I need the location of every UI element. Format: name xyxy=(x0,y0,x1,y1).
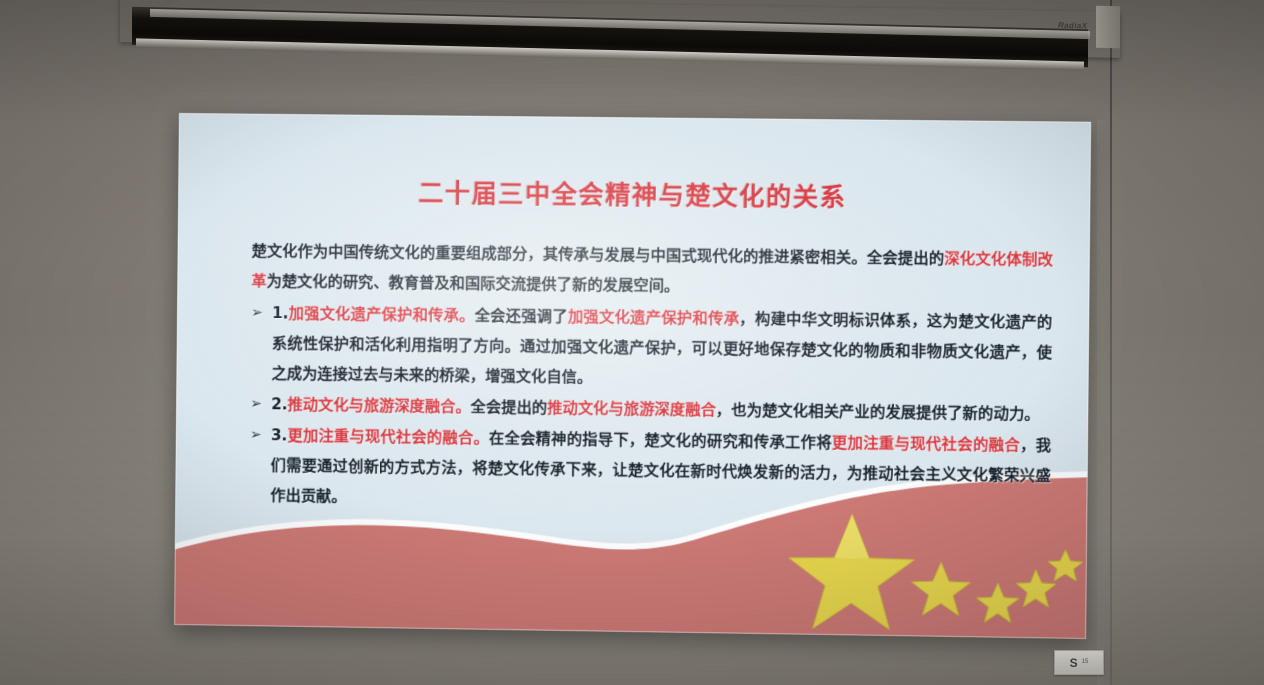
bullet-1-text: 1.加强文化遗产保护和传承。全会还强调了加强文化遗产保护和传承，构建中华文明标识… xyxy=(271,298,1052,398)
bullet-marker-icon: ➢ xyxy=(250,420,271,450)
slide-body: 楚文化作为中国传统文化的重要组成部分，其传承与发展与中国式现代化的推进紧密相关。… xyxy=(249,236,1053,522)
bullet-3-highlight: 更加注重与现代社会的融合 xyxy=(832,434,1020,455)
bullet-1-heading: 加强文化遗产保护和传承。 xyxy=(288,304,474,324)
bullet-2-segment-1: 全会提出的 xyxy=(471,398,548,417)
intro-segment-1: 楚文化作为中国传统文化的重要组成部分，其传承与发展与中国式现代化的推进紧密相关。… xyxy=(252,242,945,268)
bullet-2-highlight: 推动文化与旅游深度融合 xyxy=(547,399,716,419)
five-star-decoration xyxy=(788,508,1091,633)
bullet-3-segment-1: 在全会精神的指导下，楚文化的研究和传承工作将 xyxy=(489,429,832,452)
housing-end-cap xyxy=(1096,6,1120,48)
bullet-marker-icon: ➢ xyxy=(251,298,272,328)
bullet-2-number: 2. xyxy=(271,395,288,413)
wall-corner-shade xyxy=(1097,120,1107,685)
sticker-logo-icon: S xyxy=(1070,657,1078,669)
intro-paragraph: 楚文化作为中国传统文化的重要组成部分，其传承与发展与中国式现代化的推进紧密相关。… xyxy=(251,236,1053,305)
bullet-3-number: 3. xyxy=(271,426,288,444)
bullet-1-number: 1. xyxy=(272,304,289,322)
wall-asset-label: S 15 xyxy=(1054,650,1104,675)
bullet-item-3: ➢ 3.更加注重与现代社会的融合。在全会精神的指导下，楚文化的研究和传承工作将更… xyxy=(249,420,1051,521)
slide-canvas: 二十届三中全会精神与楚文化的关系 楚文化作为中国传统文化的重要组成部分，其传承与… xyxy=(174,113,1091,639)
bullet-2-segment-2: ，也为楚文化相关产业的发展提供了新的动力。 xyxy=(716,401,1040,423)
bullet-item-1: ➢ 1.加强文化遗产保护和传承。全会还强调了加强文化遗产保护和传承，构建中华文明… xyxy=(250,298,1052,398)
bullet-1-segment-1: 全会还强调了 xyxy=(475,306,568,325)
bullet-2-heading: 推动文化与旅游深度融合。 xyxy=(288,395,471,415)
sticker-code: 15 xyxy=(1082,659,1089,666)
slide-title: 二十届三中全会精神与楚文化的关系 xyxy=(178,171,1090,217)
intro-segment-2: 为楚文化的研究、教育普及和国际交流提供了新的发展空间。 xyxy=(267,272,680,295)
bullet-1-highlight: 加强文化遗产保护和传承 xyxy=(568,308,740,328)
wall-seam-line xyxy=(1110,0,1112,685)
projected-slide: 二十届三中全会精神与楚文化的关系 楚文化作为中国传统文化的重要组成部分，其传承与… xyxy=(174,113,1091,639)
room-photo-scene: RadiaX xyxy=(0,0,1264,685)
bullet-3-heading: 更加注重与现代社会的融合。 xyxy=(287,426,489,447)
bullet-marker-icon: ➢ xyxy=(250,389,271,419)
bullet-3-text: 3.更加注重与现代社会的融合。在全会精神的指导下，楚文化的研究和传承工作将更加注… xyxy=(270,420,1051,521)
